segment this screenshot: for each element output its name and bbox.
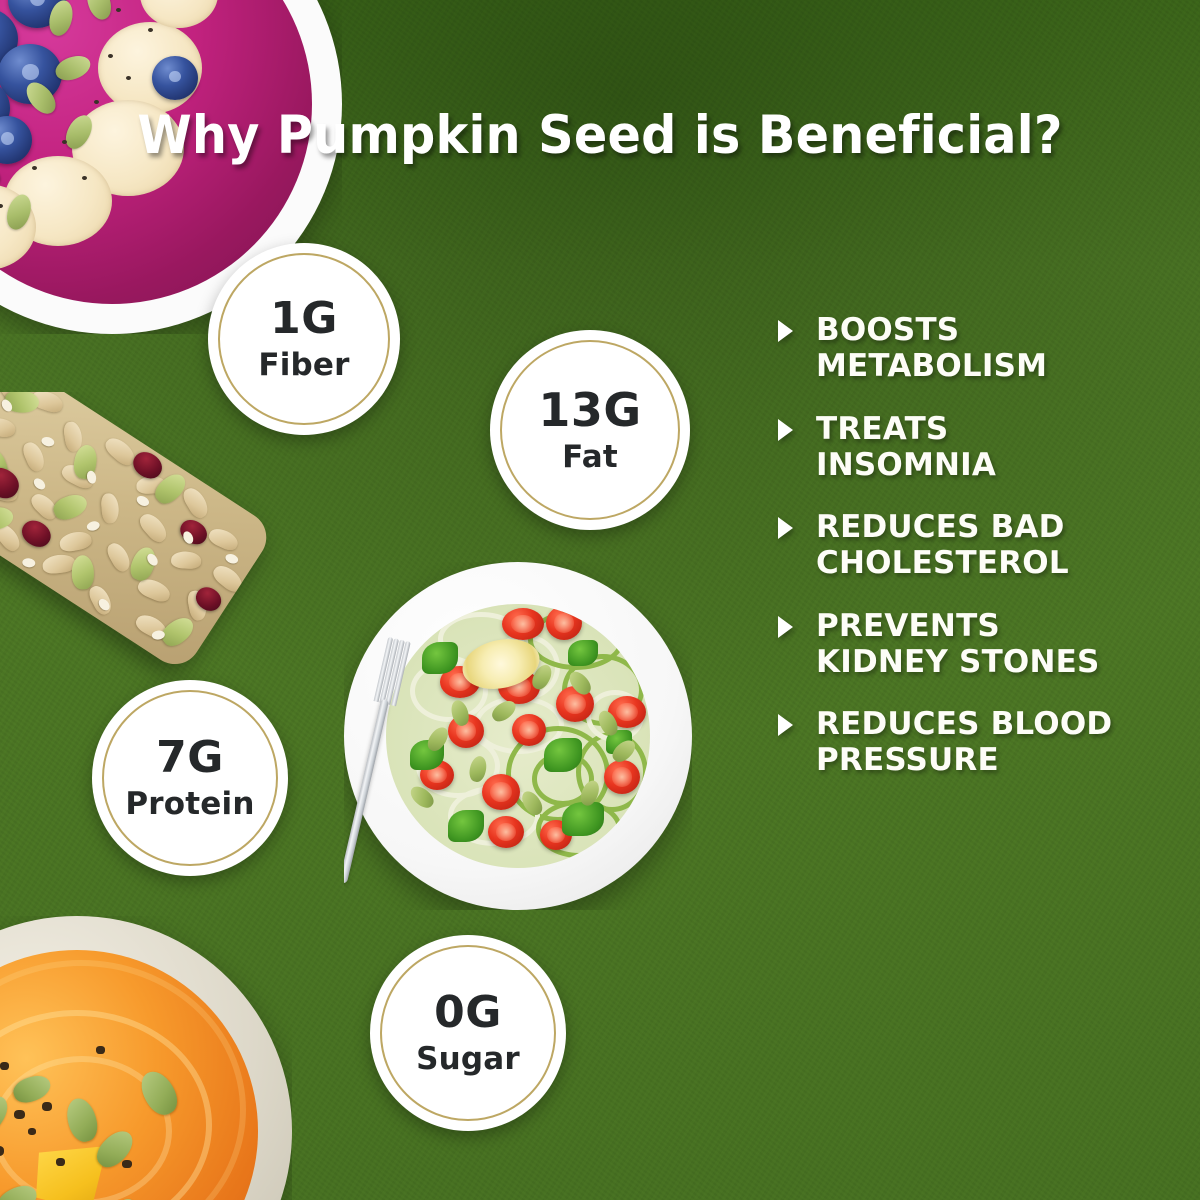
badge-label: Sugar — [416, 1044, 520, 1075]
seed-bar-body — [0, 392, 276, 674]
badge-label: Fiber — [258, 350, 349, 381]
benefit-text: PREVENTS KIDNEY STONES — [816, 608, 1100, 681]
triangle-right-icon — [778, 320, 793, 342]
benefit-item: BOOSTS METABOLISM — [778, 312, 1178, 385]
seed-bar-photo — [0, 392, 304, 722]
benefit-line-2: CHOLESTEROL — [816, 545, 1069, 581]
benefit-text: BOOSTS METABOLISM — [816, 312, 1047, 385]
benefits-list: BOOSTS METABOLISM TREATS INSOMNIA REDUCE… — [778, 312, 1178, 779]
benefit-text: REDUCES BAD CHOLESTEROL — [816, 509, 1069, 582]
salad-contents — [386, 604, 650, 868]
nutrition-badge-fiber: 1G Fiber — [208, 243, 400, 435]
infographic-poster: Why Pumpkin Seed is Beneficial? 1G Fiber… — [0, 0, 1200, 1200]
benefit-line-1: PREVENTS — [816, 608, 1100, 644]
triangle-right-icon — [778, 419, 793, 441]
benefit-item: PREVENTS KIDNEY STONES — [778, 608, 1178, 681]
triangle-right-icon — [778, 714, 793, 736]
benefit-item: REDUCES BAD CHOLESTEROL — [778, 509, 1178, 582]
benefit-line-2: METABOLISM — [816, 348, 1047, 384]
benefit-line-1: REDUCES BAD — [816, 509, 1069, 545]
triangle-right-icon — [778, 616, 793, 638]
benefit-line-2: KIDNEY STONES — [816, 644, 1100, 680]
badge-label: Fat — [562, 442, 618, 473]
benefit-line-2: INSOMNIA — [816, 447, 996, 483]
benefit-line-2: PRESSURE — [816, 742, 1112, 778]
nutrition-badge-protein: 7G Protein — [92, 680, 288, 876]
badge-label: Protein — [125, 789, 254, 820]
pumpkin-soup-photo — [0, 916, 292, 1200]
nutrition-badge-sugar: 0G Sugar — [370, 935, 566, 1131]
nutrition-badge-fat: 13G Fat — [490, 330, 690, 530]
triangle-right-icon — [778, 517, 793, 539]
zoodle-salad-photo — [344, 562, 692, 910]
benefit-line-1: TREATS — [816, 411, 996, 447]
benefit-item: REDUCES BLOOD PRESSURE — [778, 706, 1178, 779]
benefit-text: REDUCES BLOOD PRESSURE — [816, 706, 1112, 779]
benefit-item: TREATS INSOMNIA — [778, 411, 1178, 484]
badge-value: 7G — [156, 736, 224, 780]
benefit-line-1: REDUCES BLOOD — [816, 706, 1112, 742]
page-title: Why Pumpkin Seed is Beneficial? — [42, 105, 1158, 166]
badge-value: 13G — [538, 387, 641, 433]
badge-value: 0G — [434, 991, 502, 1035]
badge-value: 1G — [270, 297, 338, 341]
benefit-line-1: BOOSTS — [816, 312, 1047, 348]
benefit-text: TREATS INSOMNIA — [816, 411, 996, 484]
